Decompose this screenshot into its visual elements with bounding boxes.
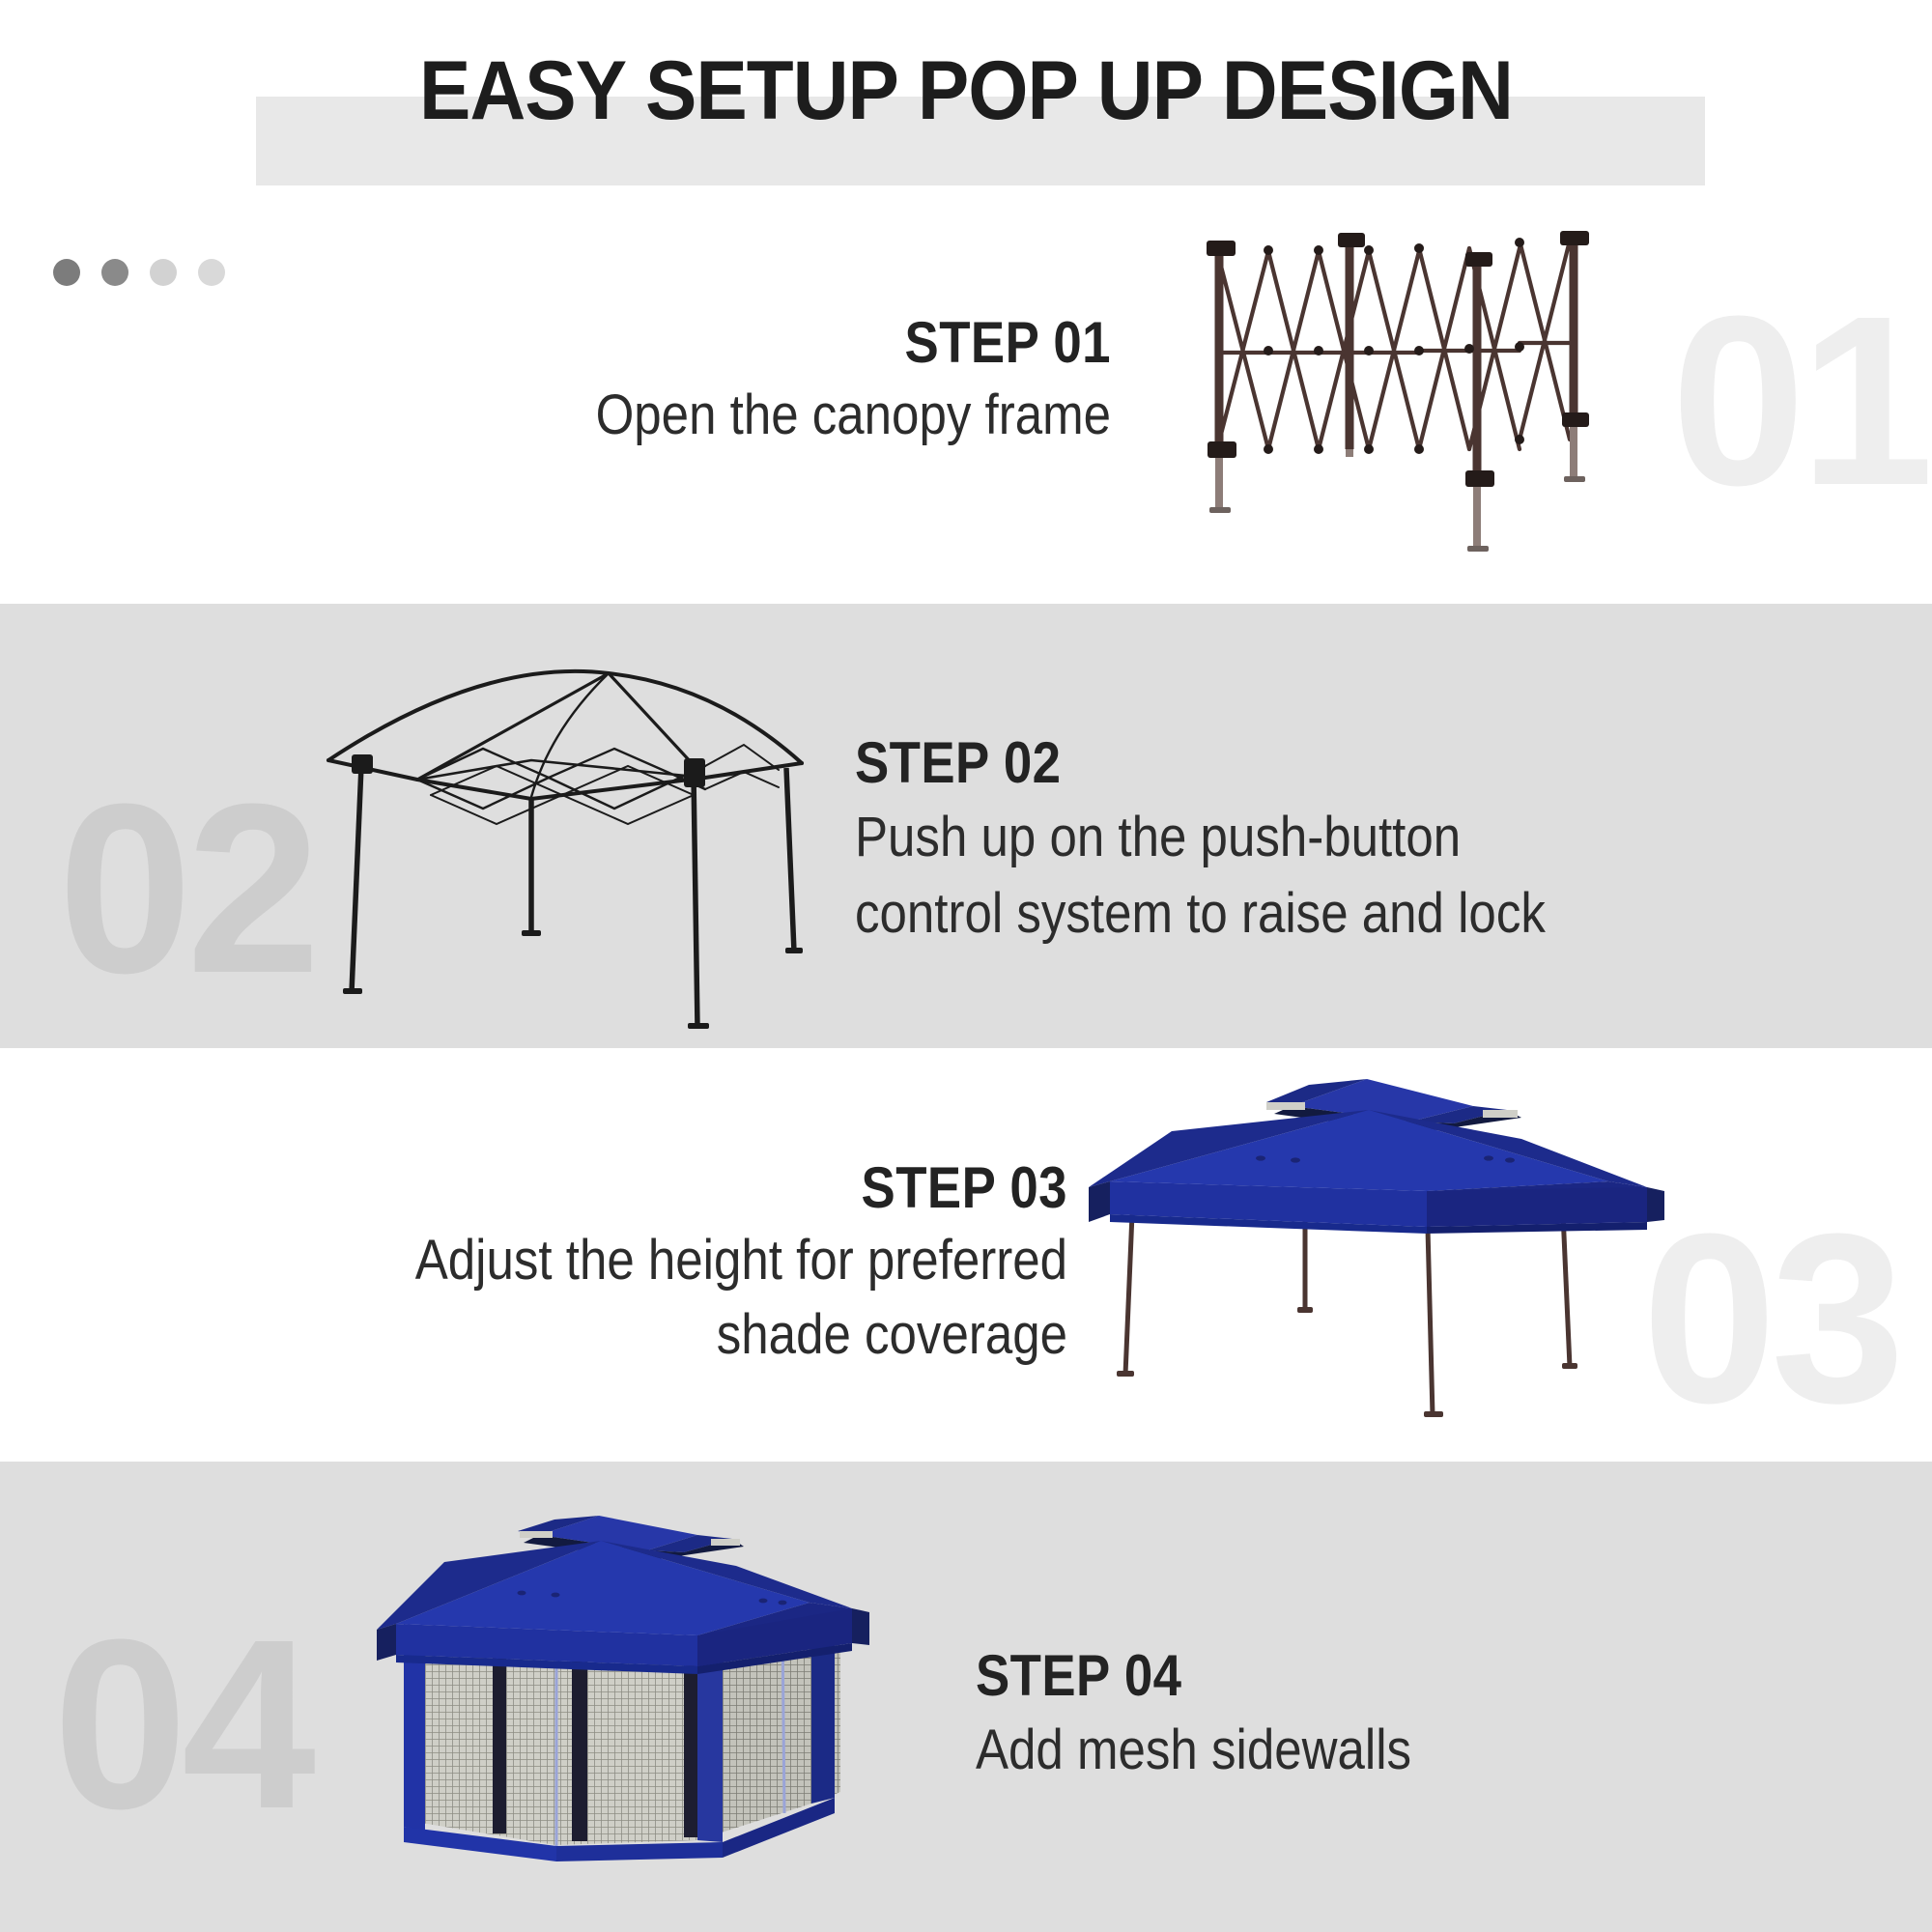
step-progress-dots <box>53 259 225 286</box>
watermark-number-02: 02 <box>58 768 315 1009</box>
folded-canopy-frame-icon <box>1164 208 1618 594</box>
progress-dot-3 <box>150 259 177 286</box>
watermark-number-04: 04 <box>53 1604 310 1845</box>
page-title: EASY SETUP POP UP DESIGN <box>68 43 1864 139</box>
step-02-description-line-2: control system to raise and lock <box>855 880 1620 949</box>
gazebo-with-mesh-sidewalls-icon <box>357 1502 898 1918</box>
progress-dot-1 <box>53 259 80 286</box>
step-04-heading: STEP 04 <box>976 1642 1656 1709</box>
progress-dot-4 <box>198 259 225 286</box>
step-04-description: Add mesh sidewalls <box>976 1717 1656 1785</box>
step-03-description-line-1: Adjust the height for preferred <box>341 1227 1067 1295</box>
step-03-text-block: STEP 03 Adjust the height for preferred … <box>241 1154 1067 1370</box>
step-02-heading: STEP 02 <box>855 729 1620 796</box>
step-01-illustration <box>1164 208 1618 594</box>
watermark-number-01: 01 <box>1671 280 1928 522</box>
step-03-illustration <box>1067 1067 1676 1454</box>
step-03-description-line-2: shade coverage <box>341 1301 1067 1370</box>
step-01-heading: STEP 01 <box>413 309 1111 376</box>
step-01-description: Open the canopy frame <box>413 382 1111 450</box>
watermark-number-03: 03 <box>1642 1198 1899 1439</box>
step-04-illustration <box>357 1502 898 1918</box>
step-03-heading: STEP 03 <box>341 1154 1067 1221</box>
infographic-page: EASY SETUP POP UP DESIGN 01 02 03 04 STE… <box>0 0 1932 1932</box>
step-02-text-block: STEP 02 Push up on the push-button contr… <box>855 729 1724 949</box>
step-04-text-block: STEP 04 Add mesh sidewalls <box>976 1642 1748 1785</box>
progress-dot-2 <box>101 259 128 286</box>
step-01-text-block: STEP 01 Open the canopy frame <box>319 309 1111 450</box>
step-02-illustration <box>290 652 840 1038</box>
raised-canopy-frame-icon <box>290 652 840 1038</box>
blue-canopy-gazebo-icon <box>1067 1067 1676 1454</box>
step-02-description-line-1: Push up on the push-button <box>855 804 1620 872</box>
